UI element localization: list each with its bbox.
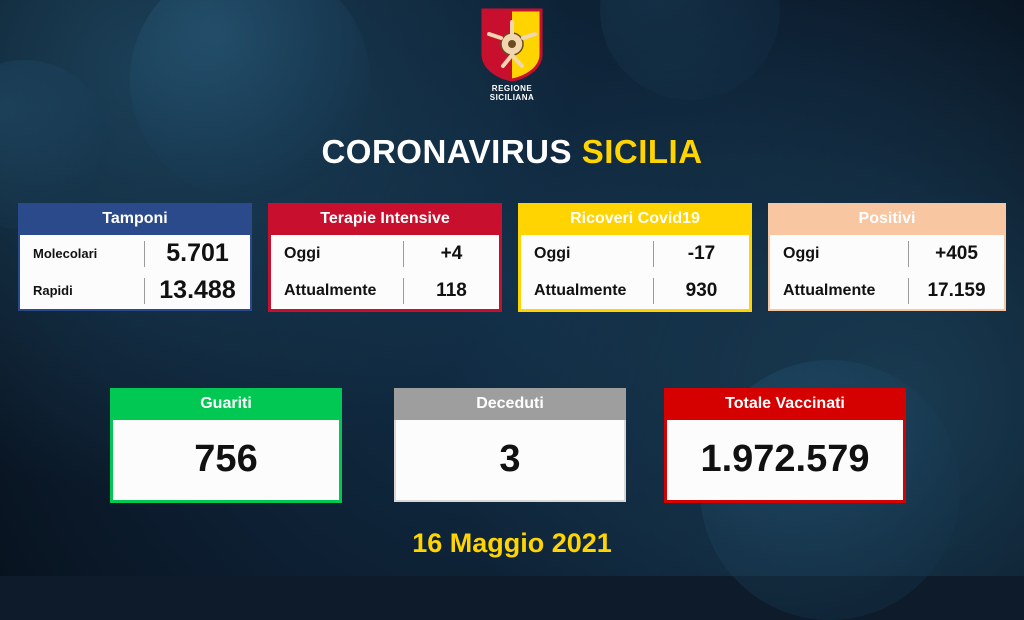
row-value: +4 (404, 243, 499, 265)
row-label: Attualmente (770, 282, 908, 300)
table-row: Oggi +405 (770, 235, 1004, 272)
card-guariti: Guariti 756 (110, 388, 342, 503)
card-tamponi: Tamponi Molecolari 5.701 Rapidi 13.488 (18, 203, 252, 311)
row-label: Attualmente (271, 282, 403, 300)
page-title: CORONAVIRUS SICILIA (0, 133, 1024, 171)
card-ricoveri-title: Ricoveri Covid19 (518, 203, 752, 235)
card-ricoveri-body: Oggi -17 Attualmente 930 (518, 235, 752, 312)
virus-particle (600, 0, 780, 100)
table-row: Attualmente 17.159 (770, 272, 1004, 309)
crest-label: REGIONE SICILIANA (474, 84, 550, 102)
row-value: 930 (654, 280, 749, 302)
sicily-trinacria-crest-icon (481, 8, 543, 82)
table-row: Rapidi 13.488 (20, 272, 250, 309)
card-vaccinati-title: Totale Vaccinati (664, 388, 906, 420)
row-label: Oggi (271, 245, 403, 263)
card-vaccinati-value: 1.972.579 (664, 420, 906, 503)
card-ricoveri-covid19: Ricoveri Covid19 Oggi -17 Attualmente 93… (518, 203, 752, 312)
card-terapie-title: Terapie Intensive (268, 203, 502, 235)
row-label: Attualmente (521, 282, 653, 300)
row-label: Oggi (521, 245, 653, 263)
card-terapie-body: Oggi +4 Attualmente 118 (268, 235, 502, 312)
regione-siciliana-crest: REGIONE SICILIANA (474, 8, 550, 118)
row-value: 17.159 (909, 280, 1004, 302)
table-row: Oggi +4 (271, 235, 499, 272)
table-row: Molecolari 5.701 (20, 235, 250, 272)
card-deceduti: Deceduti 3 (394, 388, 626, 502)
card-deceduti-title: Deceduti (394, 388, 626, 420)
row-value: +405 (909, 243, 1004, 265)
card-deceduti-value: 3 (394, 420, 626, 502)
card-guariti-title: Guariti (110, 388, 342, 420)
row-label: Rapidi (20, 283, 144, 298)
card-tamponi-title: Tamponi (18, 203, 252, 235)
card-positivi-title: Positivi (768, 203, 1006, 235)
row-value: 5.701 (145, 239, 250, 268)
row-value: -17 (654, 243, 749, 265)
title-main: CORONAVIRUS (321, 133, 572, 170)
card-tamponi-body: Molecolari 5.701 Rapidi 13.488 (18, 235, 252, 311)
card-positivi: Positivi Oggi +405 Attualmente 17.159 (768, 203, 1006, 311)
card-positivi-body: Oggi +405 Attualmente 17.159 (768, 235, 1006, 311)
card-totale-vaccinati: Totale Vaccinati 1.972.579 (664, 388, 906, 503)
card-guariti-value: 756 (110, 420, 342, 503)
report-date: 16 Maggio 2021 (0, 528, 1024, 559)
table-row: Oggi -17 (521, 235, 749, 272)
table-row: Attualmente 118 (271, 272, 499, 309)
row-value: 118 (404, 280, 499, 302)
row-label: Oggi (770, 245, 908, 263)
title-highlight: SICILIA (582, 133, 703, 170)
card-terapie-intensive: Terapie Intensive Oggi +4 Attualmente 11… (268, 203, 502, 312)
row-label: Molecolari (20, 246, 144, 261)
table-row: Attualmente 930 (521, 272, 749, 309)
row-value: 13.488 (145, 276, 250, 305)
